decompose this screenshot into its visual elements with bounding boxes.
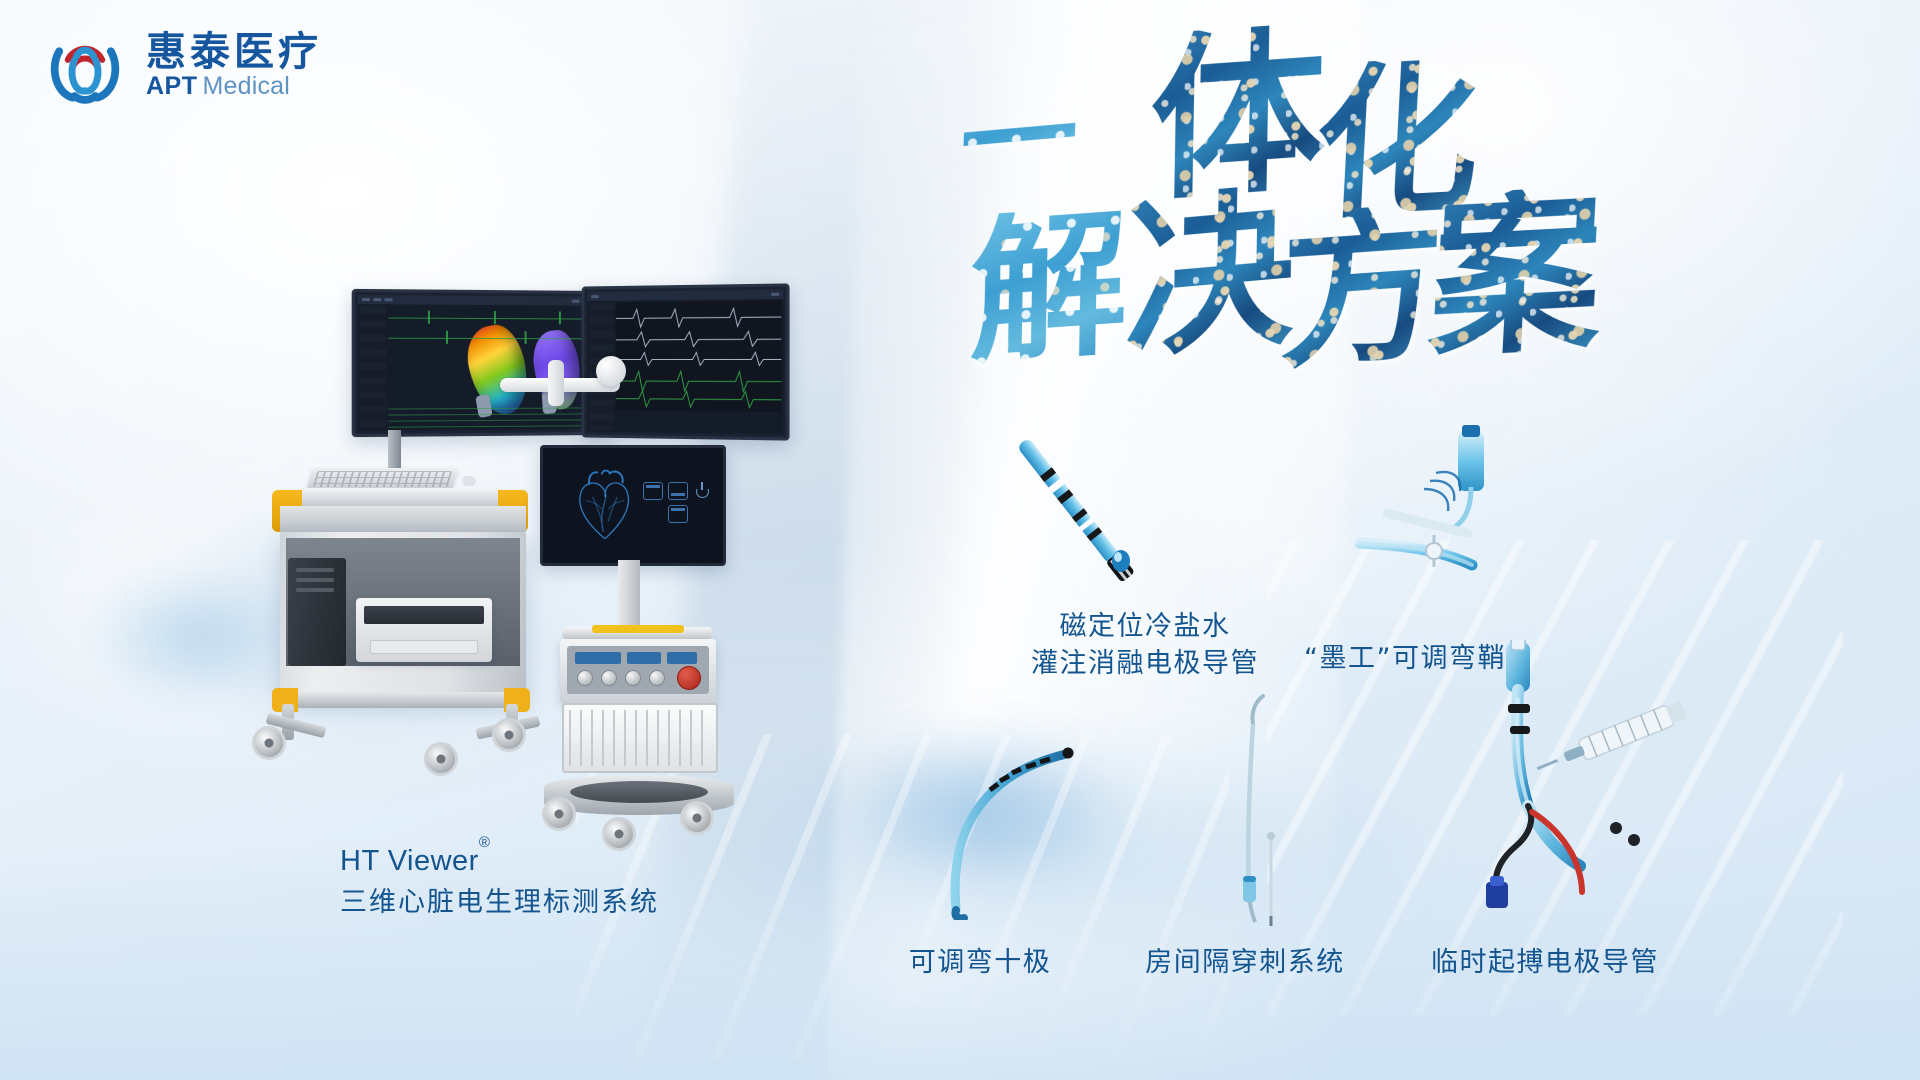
label-line-1: 临时起搏电极导管 <box>1420 944 1670 981</box>
brand-name-cn: 惠泰医疗 <box>146 32 322 72</box>
tray-yellow-trim <box>592 625 684 633</box>
mapping-monitor-left <box>352 289 615 437</box>
label-ablation-catheter: 磁定位冷盐水 灌注消融电极导管 <box>1010 608 1280 683</box>
headline-char-5: 决 <box>1124 182 1296 368</box>
apt-medical-logo-icon <box>42 22 128 108</box>
brand-name-en: APT Medical <box>146 74 322 99</box>
3d-heart-model <box>569 464 641 544</box>
brand-name-en-light: Medical <box>203 74 291 99</box>
generator-start-button[interactable] <box>677 666 701 690</box>
decapolar-catheter-icon <box>940 720 1090 920</box>
toolbar-item <box>572 300 580 303</box>
brand-logo-text: 惠泰医疗 APT Medical <box>146 32 322 99</box>
cart-bottom-shelf <box>276 692 530 708</box>
cart-shelf <box>280 506 526 532</box>
monitor-arm-pivot <box>596 356 626 386</box>
mapping-screen <box>358 295 609 431</box>
cart-caster <box>492 718 526 752</box>
cart-caster <box>602 817 636 851</box>
generator-display <box>667 652 697 664</box>
generator-knob[interactable] <box>577 670 593 686</box>
headline-calligraphy: 一 体 化 解 决 方 案 <box>975 40 1635 340</box>
monitor-stand <box>618 560 640 632</box>
label-transseptal-system: 房间隔穿刺系统 <box>1135 944 1355 981</box>
label-line-1: “墨工”可调弯鞘 <box>1300 640 1510 677</box>
workstation-name-text: HT Viewer <box>340 845 479 877</box>
generator-display <box>575 652 621 664</box>
printer <box>356 598 492 662</box>
mapping-toolbar <box>358 295 609 306</box>
toolbar-item <box>384 298 392 301</box>
label-pacing-catheter: 临时起搏电极导管 <box>1420 944 1670 981</box>
layers-icon[interactable] <box>668 482 688 500</box>
monitor-icon-panel[interactable] <box>643 482 711 521</box>
generator-cart <box>540 445 800 855</box>
cart-caster <box>680 801 714 835</box>
toolbar-item <box>362 298 370 301</box>
split-icon[interactable] <box>668 505 688 523</box>
toolbar-item <box>591 295 599 298</box>
trademark-symbol: ® <box>479 834 491 851</box>
electrogram-side-panel <box>360 306 387 429</box>
label-line-1: 房间隔穿刺系统 <box>1135 944 1355 981</box>
heart-display-monitor <box>540 445 726 566</box>
cart-caster <box>252 726 286 760</box>
steerable-sheath-icon <box>1330 425 1550 605</box>
headline-char-6: 方 <box>1279 202 1445 378</box>
cart-top-surface <box>278 488 528 506</box>
ecg-trace-row <box>388 309 605 326</box>
generator-display <box>627 652 661 664</box>
window-icon[interactable] <box>643 482 663 500</box>
workstation-name-en: HT Viewer® <box>340 845 490 878</box>
power-icon[interactable] <box>693 482 711 498</box>
poster-canvas: 惠泰医疗 APT Medical 一 体 化 解 决 方 案 <box>0 0 1920 1080</box>
generator-knob[interactable] <box>601 670 617 686</box>
cart-caster <box>424 742 458 776</box>
label-line-1: 可调弯十极 <box>890 944 1070 981</box>
transseptal-needle-icon <box>1205 690 1315 930</box>
generator-front-panel <box>567 646 709 694</box>
ecg-strip-bottom <box>388 407 606 428</box>
toolbar-item <box>771 293 779 296</box>
computer-tower <box>288 558 346 666</box>
generator-knob[interactable] <box>649 670 665 686</box>
rf-generator <box>560 639 716 703</box>
headline-char-7: 案 <box>1426 185 1607 367</box>
label-line-2: 灌注消融电极导管 <box>1010 645 1280 682</box>
keyboard[interactable] <box>307 468 458 490</box>
monitor-arm-joint <box>548 360 564 406</box>
mouse[interactable] <box>462 476 476 486</box>
generator-knob[interactable] <box>625 670 641 686</box>
headline-char-1: 一 <box>958 74 1080 203</box>
label-steerable-sheath: “墨工”可调弯鞘 <box>1300 640 1510 677</box>
headline-char-4: 解 <box>969 204 1129 374</box>
toolbar-item <box>373 298 381 301</box>
brand-name-en-bold: APT <box>146 74 198 99</box>
ecg-toolbar <box>587 290 783 302</box>
label-line-1: 磁定位冷盐水 <box>1010 608 1280 645</box>
accessory-basket <box>562 703 718 773</box>
cart-caster <box>542 797 576 831</box>
workstation-name-cn: 三维心脏电生理标测系统 <box>340 884 659 921</box>
ecg-trace-row <box>388 330 605 347</box>
pacing-catheter-icon <box>1420 640 1720 930</box>
ablation-catheter-icon <box>975 430 1175 590</box>
label-decapolar-catheter: 可调弯十极 <box>890 944 1070 981</box>
ecg-waveform-pane <box>616 301 781 412</box>
brand-logo[interactable]: 惠泰医疗 APT Medical <box>42 22 322 108</box>
